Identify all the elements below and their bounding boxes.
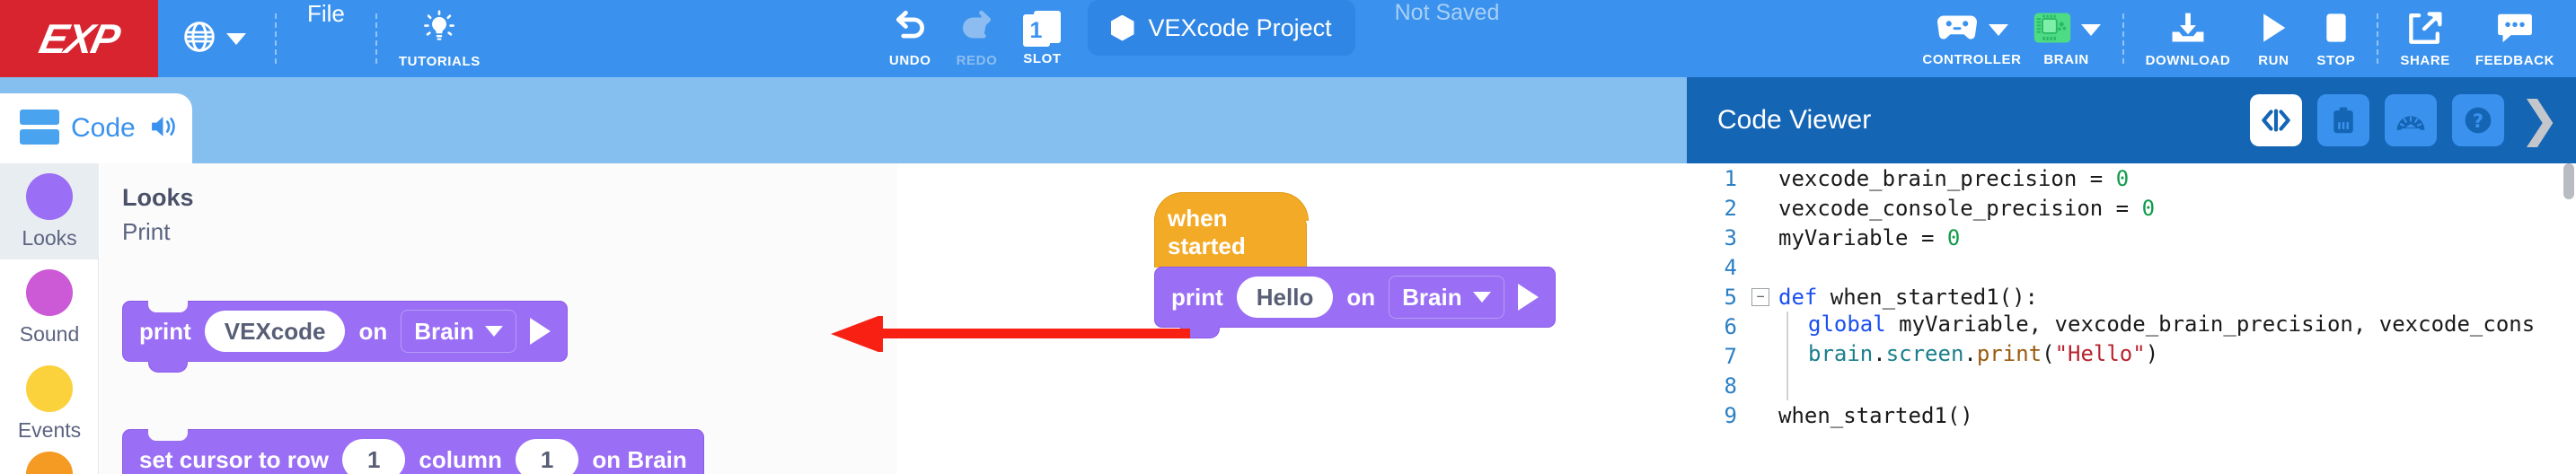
events-color-dot [26, 365, 73, 412]
code-token: myVariable = [1778, 225, 1947, 250]
save-status: Not Saved [1368, 0, 1527, 77]
download-icon [2167, 10, 2209, 50]
code-text: vexcode_brain_precision = 0 [1778, 166, 2129, 191]
when-started-block[interactable]: when started [1154, 217, 1307, 268]
block-notch [148, 361, 188, 373]
language-selector[interactable] [158, 0, 266, 77]
code-token: ( [2042, 341, 2054, 366]
print-text-input[interactable]: VEXcode [205, 311, 346, 352]
dashboard-view-button[interactable] [2385, 94, 2437, 146]
column-input[interactable]: 1 [516, 439, 578, 474]
code-line: 5−def when_started1(): [1687, 282, 2576, 312]
toolbar-spacer-right [1526, 0, 1910, 77]
code-content[interactable]: 1vexcode_brain_precision = 02vexcode_con… [1687, 163, 2576, 474]
category-sound[interactable]: Sound [0, 259, 99, 355]
feedback-button[interactable]: FEEDBACK [2463, 0, 2576, 77]
slot-icon: 1 [1023, 11, 1063, 48]
block-notch [148, 301, 188, 312]
code-token: "Hello" [2055, 341, 2146, 366]
category-next[interactable] [0, 452, 99, 474]
line-number: 6 [1687, 314, 1751, 339]
help-button[interactable]: ? [2452, 94, 2504, 146]
play-icon [2255, 10, 2291, 50]
target-dropdown[interactable]: Brain [401, 310, 516, 353]
category-rail: Looks Sound Events [0, 163, 99, 474]
code-text: when_started1() [1778, 403, 1973, 428]
annotation-arrow-icon [831, 316, 1190, 352]
tab-code-label: Code [71, 113, 136, 144]
run-button[interactable]: RUN [2243, 0, 2304, 77]
code-text: myVariable = 0 [1778, 225, 1960, 250]
project-hexagon-icon [1111, 15, 1134, 41]
brain-button[interactable]: BRAIN [2027, 0, 2113, 77]
workspace-print-block[interactable]: print Hello on Brain [1154, 267, 1556, 328]
project-name-value: VEXcode Project [1149, 14, 1332, 42]
divider [2122, 13, 2124, 64]
category-looks[interactable]: Looks [0, 163, 99, 259]
code-text: vexcode_console_precision = 0 [1778, 196, 2155, 221]
code-line: 2vexcode_console_precision = 0 [1687, 193, 2576, 223]
file-menu[interactable]: File [286, 0, 366, 77]
category-events-label: Events [18, 418, 81, 443]
line-number: 8 [1687, 373, 1751, 399]
code-token: global [1808, 312, 1886, 337]
redo-icon [957, 10, 998, 50]
feedback-label: FEEDBACK [2475, 53, 2554, 68]
code-token: 0 [2142, 196, 2155, 221]
line-number: 4 [1687, 255, 1751, 280]
controller-button[interactable]: CONTROLLER [1910, 0, 2026, 77]
code-token: when_started1() [1778, 403, 1973, 428]
feedback-icon [2495, 10, 2535, 50]
stop-button[interactable]: STOP [2304, 0, 2368, 77]
palette-subheading: Print [100, 212, 897, 246]
script-stack[interactable]: when started print Hello on Brain [1154, 217, 1556, 328]
code-line: 9when_started1() [1687, 400, 2576, 430]
code-token: screen [1886, 341, 1964, 366]
download-button[interactable]: DOWNLOAD [2133, 0, 2244, 77]
code-viewer-panel: Code Viewer [1687, 77, 2576, 474]
controller-label: CONTROLLER [1922, 52, 2021, 67]
divider [375, 13, 377, 64]
toolbar-spacer-left [493, 0, 877, 77]
code-token: vexcode_brain_precision = [1778, 166, 2116, 191]
divider [275, 13, 277, 64]
code-line: 1vexcode_brain_precision = 0 [1687, 163, 2576, 193]
palette-print-block[interactable]: print VEXcode on Brain [122, 301, 568, 362]
when-started-label: when started [1168, 205, 1306, 260]
stop-label: STOP [2316, 53, 2355, 68]
blocks-icon [20, 110, 59, 147]
line-number: 9 [1687, 403, 1751, 428]
code-text: brain.screen.print("Hello") [1786, 341, 2158, 371]
line-number: 3 [1687, 225, 1751, 250]
on-label: on [358, 318, 387, 346]
line-number: 1 [1687, 166, 1751, 191]
block-play-icon[interactable] [530, 318, 551, 345]
target-value: Brain [1402, 284, 1461, 312]
print-label: print [139, 318, 191, 346]
next-color-dot [26, 452, 73, 474]
category-sound-label: Sound [20, 322, 80, 347]
category-looks-label: Looks [22, 226, 76, 250]
code-line: 4 [1687, 252, 2576, 282]
code-line: 7brain.screen.print("Hello") [1687, 341, 2576, 371]
code-text [1786, 371, 1808, 400]
code-viewer-header: Code Viewer [1687, 77, 2576, 163]
svg-text:?: ? [2473, 110, 2483, 132]
divider [2377, 13, 2378, 64]
on-brain-label: on Brain [592, 446, 686, 474]
fold-toggle-icon[interactable]: − [1751, 288, 1769, 306]
top-toolbar: EXP File [0, 0, 2576, 77]
download-label: DOWNLOAD [2146, 53, 2231, 68]
code-token: vexcode_console_precision = [1778, 196, 2142, 221]
slot-number: 1 [1023, 14, 1050, 47]
controller-icon [1935, 11, 1980, 49]
share-icon [2405, 10, 2445, 50]
on-label: on [1346, 284, 1375, 312]
run-label: RUN [2258, 53, 2289, 68]
code-token: def [1778, 285, 1831, 310]
globe-icon [181, 19, 217, 59]
stop-icon [2318, 10, 2354, 50]
code-line: 6global myVariable, vexcode_brain_precis… [1687, 312, 2576, 341]
slot-label: SLOT [1023, 51, 1061, 66]
chevron-down-icon [226, 33, 246, 45]
share-button[interactable]: SHARE [2387, 0, 2463, 77]
column-label: column [419, 446, 501, 474]
tab-strip: Code [0, 77, 1687, 163]
code-viewer-title: Code Viewer [1717, 105, 2250, 136]
slot-selector[interactable]: 1 SLOT [1010, 0, 1075, 77]
code-line: 8 [1687, 371, 2576, 400]
chevron-down-icon [2081, 24, 2101, 36]
brain-label: BRAIN [2043, 52, 2089, 67]
speaker-icon[interactable] [147, 111, 181, 146]
code-token: brain [1808, 341, 1873, 366]
chevron-down-icon [1473, 292, 1491, 303]
palette-set-cursor-block[interactable]: set cursor to row 1 column 1 on Brain [122, 429, 704, 474]
block-palette: Looks Print print VEXcode on Brain set c… [100, 163, 897, 474]
redo-button[interactable]: REDO [944, 0, 1010, 77]
line-number: 2 [1687, 196, 1751, 221]
code-text: def when_started1(): [1778, 285, 2038, 310]
battery-view-button[interactable] [2317, 94, 2369, 146]
set-cursor-label: set cursor to row [139, 446, 329, 474]
code-token: 0 [1947, 225, 1960, 250]
code-text: global myVariable, vexcode_brain_precisi… [1786, 312, 2535, 341]
category-events[interactable]: Events [0, 355, 99, 452]
code-line: 3myVariable = 0 [1687, 223, 2576, 252]
code-token: when_started1(): [1831, 285, 2038, 310]
chevron-right-icon[interactable]: ❯ [2519, 101, 2560, 139]
target-dropdown[interactable]: Brain [1389, 276, 1504, 319]
line-number: 7 [1687, 344, 1751, 369]
code-scrollbar[interactable] [2563, 163, 2574, 199]
share-label: SHARE [2400, 53, 2450, 68]
print-text-input[interactable]: Hello [1237, 276, 1334, 318]
chevron-down-icon [485, 326, 503, 337]
sound-color-dot [26, 269, 73, 316]
logo-text: EXP [35, 14, 123, 63]
tutorials-label: TUTORIALS [399, 54, 481, 69]
block-play-icon[interactable] [1518, 284, 1539, 311]
undo-icon [889, 10, 931, 50]
brain-icon [2033, 11, 2072, 49]
code-token: . [1963, 341, 1976, 366]
code-token: . [1873, 341, 1885, 366]
target-value: Brain [414, 318, 473, 346]
line-number: 5 [1687, 285, 1751, 310]
print-label: print [1171, 284, 1223, 312]
code-view-button[interactable] [2250, 94, 2302, 146]
code-token: 0 [2116, 166, 2129, 191]
code-token: ) [2146, 341, 2158, 366]
code-token: print [1977, 341, 2042, 366]
palette-heading: Looks [100, 163, 897, 212]
vex-exp-logo[interactable]: EXP [0, 0, 158, 77]
lightbulb-icon [419, 9, 459, 51]
project-name-field[interactable]: VEXcode Project [1088, 0, 1355, 56]
looks-color-dot [26, 173, 73, 220]
undo-button[interactable]: UNDO [877, 0, 944, 77]
vexcode-app: EXP File [0, 0, 2576, 474]
block-notch [148, 429, 188, 441]
code-token: myVariable, vexcode_brain_precision, vex… [1886, 312, 2535, 337]
redo-label: REDO [957, 53, 998, 68]
row-input[interactable]: 1 [342, 439, 405, 474]
tab-code[interactable]: Code [0, 93, 192, 163]
tutorials-button[interactable]: TUTORIALS [386, 0, 493, 77]
undo-label: UNDO [889, 53, 931, 68]
chevron-down-icon [1989, 24, 2008, 36]
